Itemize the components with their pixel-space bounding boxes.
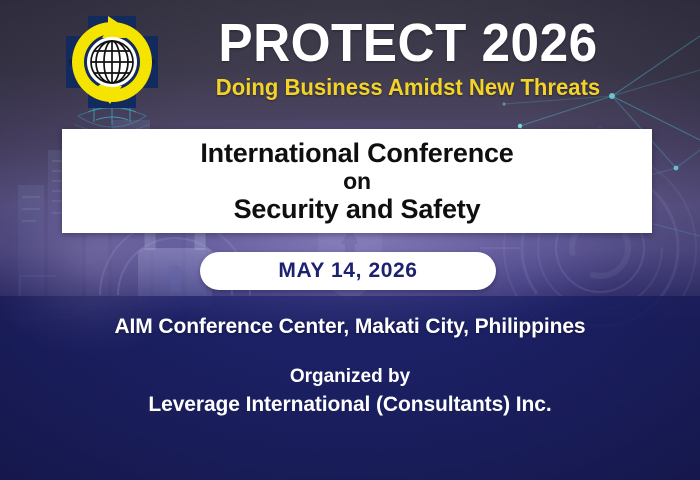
conference-title-panel: International Conference on Security and…	[62, 129, 652, 233]
event-tagline: Doing Business Amidst New Threats	[181, 74, 634, 100]
protect-2026-logo	[58, 12, 166, 112]
conference-title-line-1: International Conference	[200, 138, 513, 169]
event-venue: AIM Conference Center, Makati City, Phil…	[0, 314, 700, 340]
event-date-text: MAY 14, 2026	[278, 259, 417, 283]
organizer-name: Leverage International (Consultants) Inc…	[0, 392, 700, 418]
organizer-block: Organized by Leverage International (Con…	[0, 364, 700, 418]
conference-title-line-3: Security and Safety	[234, 194, 481, 225]
banner-header: PROTECT 2026 Doing Business Amidst New T…	[172, 14, 644, 100]
conference-title-line-2: on	[343, 169, 371, 194]
event-date-pill: MAY 14, 2026	[200, 252, 496, 290]
event-banner: PROTECT 2026 Doing Business Amidst New T…	[0, 0, 700, 480]
organizer-prefix: Organized by	[0, 364, 700, 389]
globe-shield-logo-icon	[58, 12, 166, 112]
event-title: PROTECT 2026	[184, 14, 632, 72]
